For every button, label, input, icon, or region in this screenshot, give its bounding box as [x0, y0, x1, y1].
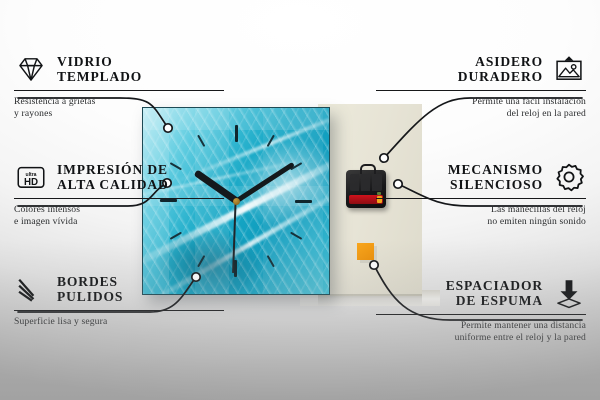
feature-divider [14, 310, 224, 311]
feature-desc-line1: Colores intensos [14, 204, 224, 216]
feature-divider [376, 314, 586, 315]
clock-center-cap [233, 198, 240, 205]
feature-title-line1: IMPRESIÓN DE [57, 162, 169, 177]
infographic-canvas: VIDRIO TEMPLADO Resistencia a grietas y … [0, 0, 600, 400]
feature-title-line1: ESPACIADOR [446, 278, 543, 293]
feature-title-line1: VIDRIO [57, 54, 142, 69]
diamond-icon [14, 52, 48, 86]
feature-divider [376, 198, 586, 199]
feature-hd-printing: ultra HD IMPRESIÓN DE ALTA CALIDAD Color… [14, 160, 224, 227]
feature-header: ultra HD IMPRESIÓN DE ALTA CALIDAD [14, 160, 224, 194]
ultra-hd-icon: ultra HD [14, 160, 48, 194]
feature-desc-line2: e imagen vívida [14, 216, 224, 228]
feature-foam-spacer: ESPACIADOR DE ESPUMA Permite mantener un… [376, 276, 586, 343]
framed-picture-icon [552, 52, 586, 86]
feature-desc-line1: Resistencia a grietas [14, 96, 224, 108]
feature-title-line1: ASIDERO [458, 54, 543, 69]
feature-title-line2: DE ESPUMA [446, 293, 543, 308]
feature-header: ASIDERO DURADERO [376, 52, 586, 86]
feature-desc-line2: y rayones [14, 108, 224, 120]
feature-desc-line2: uniforme entre el reloj y la pared [376, 332, 586, 344]
feature-divider [376, 90, 586, 91]
feature-title-line2: ALTA CALIDAD [57, 177, 169, 192]
feature-divider [14, 198, 224, 199]
feature-desc-line2: no emiten ningún sonido [376, 216, 586, 228]
feature-title-line1: MECANISMO [448, 162, 543, 177]
feature-desc-line1: Permite mantener una distancia [376, 320, 586, 332]
feature-header: BORDES PULIDOS [14, 272, 224, 306]
feature-title-line2: SILENCIOSO [448, 177, 543, 192]
feature-header: ESPACIADOR DE ESPUMA [376, 276, 586, 310]
foam-spacer-part [357, 243, 374, 260]
gear-icon [552, 160, 586, 194]
feature-durable-hanger: ASIDERO DURADERO Permite una fácil insta… [376, 52, 586, 119]
feature-desc-line2: del reloj en la pared [376, 108, 586, 120]
feature-desc-line1: Superficie lisa y segura [14, 316, 224, 328]
svg-text:HD: HD [24, 177, 38, 188]
feature-polished-edges: BORDES PULIDOS Superficie lisa y segura [14, 272, 224, 328]
feature-header: MECANISMO SILENCIOSO [376, 160, 586, 194]
feature-divider [14, 90, 224, 91]
feature-desc-line1: Permite una fácil instalación [376, 96, 586, 108]
feature-title-line2: DURADERO [458, 69, 543, 84]
down-arrow-pad-icon [552, 276, 586, 310]
feature-tempered-glass: VIDRIO TEMPLADO Resistencia a grietas y … [14, 52, 224, 119]
feature-title-line2: PULIDOS [57, 289, 123, 304]
polished-edges-icon [14, 272, 48, 306]
feature-title-line1: BORDES [57, 274, 123, 289]
feature-header: VIDRIO TEMPLADO [14, 52, 224, 86]
feature-desc-line1: Las manecillas del reloj [376, 204, 586, 216]
feature-silent-mechanism: MECANISMO SILENCIOSO Las manecillas del … [376, 160, 586, 227]
feature-title-line2: TEMPLADO [57, 69, 142, 84]
